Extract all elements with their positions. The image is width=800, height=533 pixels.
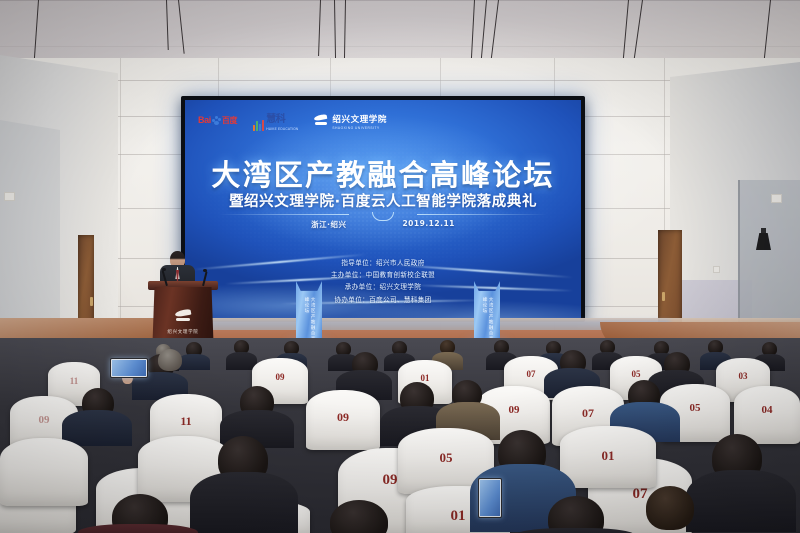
- award-pillar-right-text: 大湾区产教融合高峰论坛: [481, 297, 493, 343]
- audience-chair: 01: [560, 426, 656, 488]
- right-wall-acoustic-panel: [738, 180, 800, 340]
- podium-university-emblem-icon: [173, 309, 193, 322]
- phone-screen: [112, 360, 146, 376]
- audience-area: 11 09 07 05 01 03 09: [0, 338, 800, 533]
- organizer-line: 承办单位：绍兴文理学院: [345, 281, 421, 291]
- audience-phone-camera-right[interactable]: [478, 478, 502, 518]
- chair-number: 01: [560, 448, 656, 464]
- microphone-head-icon: [203, 269, 207, 272]
- organizer-line: 主办单位：中国教育创新校企联盟: [331, 269, 435, 279]
- organizer-list: 指导单位：绍兴市人民政府 主办单位：中国教育创新校企联盟 承办单位：绍兴文理学院…: [185, 257, 581, 304]
- baidu-logo: Bai 百度: [198, 115, 237, 126]
- event-subtitle: 暨绍兴文理学院·百度云人工智能学院落成典礼: [185, 190, 581, 211]
- event-title: 大湾区产教融合高峰论坛: [185, 152, 581, 194]
- baidu-logo-cn: 百度: [222, 115, 237, 126]
- wall-outlet: [771, 194, 782, 203]
- huike-logo: 慧科 HUIKE EDUCATION: [253, 109, 298, 131]
- podium-university-name: 绍兴文理学院: [152, 329, 214, 335]
- organizer-line: 指导单位：绍兴市人民政府: [341, 257, 424, 267]
- award-pillar-left: 大湾区产教融合高峰论坛: [296, 281, 322, 343]
- audience-shoulders: [78, 524, 198, 533]
- wall-outlet: [4, 192, 15, 201]
- shaoxing-university-en: SHAOXING UNIVERSITY: [332, 127, 387, 130]
- organizer-line: 协办单位：百度公司、慧科集团: [334, 294, 431, 304]
- baidu-paw-icon: [212, 116, 221, 125]
- audience-shoulders: [686, 470, 796, 532]
- huike-logo-cn: 慧科: [266, 114, 285, 125]
- award-pillar-right: 大湾区产教融合高峰论坛: [474, 281, 500, 343]
- chair-number: 04: [734, 404, 800, 416]
- chair-number: 09: [306, 410, 380, 425]
- chair-number: 09: [252, 372, 308, 382]
- event-date: 2019.12.11: [402, 219, 454, 230]
- light-switch[interactable]: [713, 266, 720, 273]
- shaoxing-university-logo: 绍兴文理学院 SHAOXING UNIVERSITY: [314, 110, 387, 130]
- huike-logo-en: HUIKE EDUCATION: [266, 127, 298, 131]
- shaoxing-university-emblem-icon: [314, 114, 328, 125]
- chair-number: 03: [716, 371, 770, 381]
- audience-chair: [0, 438, 88, 506]
- event-meta: 浙江·绍兴 2019.12.11: [185, 219, 581, 230]
- audience-shoulders: [190, 472, 298, 533]
- baidu-logo-latin: Bai: [198, 115, 211, 125]
- audience-head: [646, 486, 694, 530]
- chair-number: 05: [398, 450, 494, 466]
- chair-number: 11: [48, 376, 100, 386]
- led-backdrop-screen: Bai 百度: [181, 96, 585, 322]
- chair-number: 01: [398, 373, 452, 383]
- audience-shoulders: [178, 354, 210, 370]
- audience-chair: 09: [306, 390, 380, 450]
- huike-bars-icon: [253, 120, 264, 131]
- shaoxing-university-cn: 绍兴文理学院: [332, 114, 387, 124]
- microphone-head-icon: [162, 268, 166, 271]
- audience-phone-camera-left[interactable]: [110, 358, 148, 378]
- chair-number: 11: [150, 414, 222, 429]
- conference-photo-scene: Bai 百度: [0, 0, 800, 533]
- screen-logo-strip: Bai 百度: [198, 109, 387, 131]
- audience-shoulders: [516, 528, 634, 533]
- audience-shoulders: [62, 410, 132, 446]
- phone-screen: [480, 480, 500, 516]
- award-pillar-left-text: 大湾区产教融合高峰论坛: [303, 297, 315, 343]
- audience-head: [158, 349, 182, 371]
- event-location: 浙江·绍兴: [311, 219, 346, 230]
